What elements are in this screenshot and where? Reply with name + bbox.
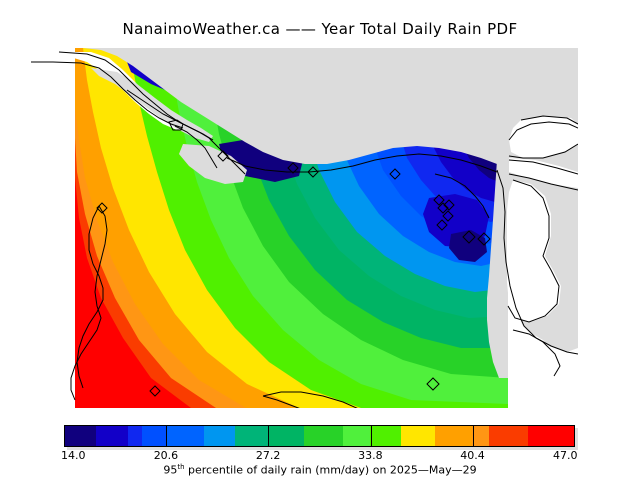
colorbar-band [142,426,167,446]
colorbar [64,425,575,447]
colorbar-tick [473,425,474,447]
colorbar-band [401,426,435,446]
colorbar-tick-label: 14.0 [61,449,86,462]
colorbar-band [370,426,401,446]
colorbar-band [96,426,128,446]
colorbar-band [235,426,269,446]
caption-rest: percentile of daily rain (mm/day) on 202… [185,464,477,477]
colorbar-band [128,426,142,446]
colorbar-caption: 95th percentile of daily rain (mm/day) o… [0,463,640,477]
colorbar-band [343,426,371,446]
colorbar-band [528,426,574,446]
colorbar-band [65,426,96,446]
rainfall-contour-map [31,48,578,408]
colorbar-band [304,426,343,446]
page-title: NanaimoWeather.ca —— Year Total Daily Ra… [0,20,640,38]
colorbar-tick-label: 20.6 [154,449,179,462]
colorbar-band [435,426,472,446]
colorbar-band [167,426,204,446]
colorbar-tick-label: 47.0 [553,449,578,462]
caption-superscript: th [177,463,184,471]
colorbar-band [472,426,489,446]
colorbar-tick [268,425,269,447]
map-panel [31,48,578,408]
colorbar-tick [166,425,167,447]
colorbar-band [204,426,235,446]
colorbar-tick-label: 33.8 [358,449,383,462]
colorbar-tick-label: 40.4 [460,449,485,462]
colorbar-tick-label: 27.2 [256,449,281,462]
colorbar-band [269,426,304,446]
caption-prefix: 95 [163,464,177,477]
colorbar-area: 95th percentile of daily rain (mm/day) o… [0,418,640,480]
colorbar-band [489,426,528,446]
colorbar-tick [371,425,372,447]
